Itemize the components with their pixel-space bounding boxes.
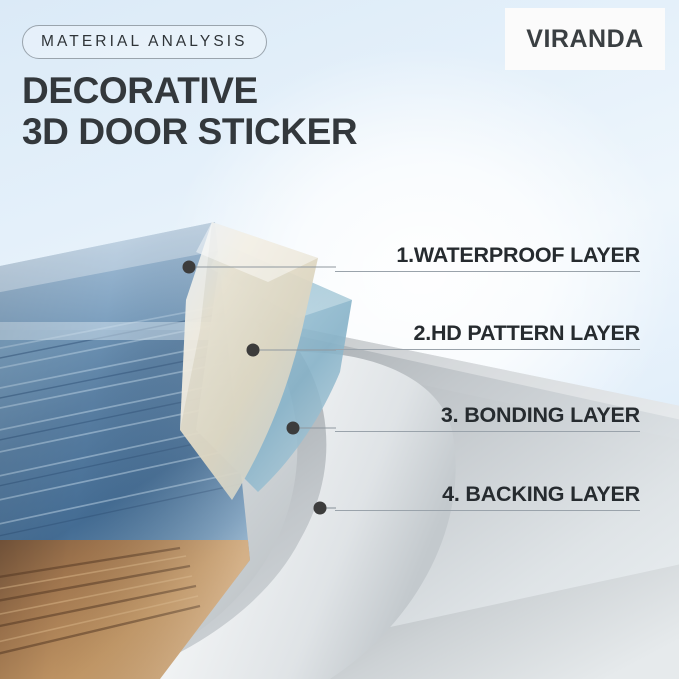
callout-label: 3. BONDING LAYER <box>335 403 640 427</box>
callout-label: 2.HD PATTERN LAYER <box>335 321 640 345</box>
dot-backing <box>314 502 327 515</box>
dot-bonding <box>287 422 300 435</box>
poster-canvas: MATERIAL ANALYSIS DECORATIVE 3D DOOR STI… <box>0 0 679 679</box>
material-analysis-badge: MATERIAL ANALYSIS <box>22 25 267 59</box>
page-title: DECORATIVE 3D DOOR STICKER <box>22 70 357 152</box>
callout-backing-layer: 4. BACKING LAYER <box>335 482 640 511</box>
dot-waterproof <box>183 261 196 274</box>
callout-underline <box>335 431 640 432</box>
title-line-1: DECORATIVE <box>22 70 258 111</box>
callout-underline <box>335 510 640 511</box>
callout-hd-pattern-layer: 2.HD PATTERN LAYER <box>335 321 640 350</box>
callout-label: 1.WATERPROOF LAYER <box>335 243 640 267</box>
callout-bonding-layer: 3. BONDING LAYER <box>335 403 640 432</box>
title-line-2: 3D DOOR STICKER <box>22 111 357 152</box>
callout-waterproof-layer: 1.WATERPROOF LAYER <box>335 243 640 272</box>
badge-label: MATERIAL ANALYSIS <box>41 33 248 51</box>
brand-logo-box: VIRANDA <box>505 8 665 70</box>
callout-label: 4. BACKING LAYER <box>335 482 640 506</box>
dot-hd-pattern <box>247 344 260 357</box>
callout-underline <box>335 349 640 350</box>
brand-name: VIRANDA <box>526 25 643 54</box>
callout-underline <box>335 271 640 272</box>
